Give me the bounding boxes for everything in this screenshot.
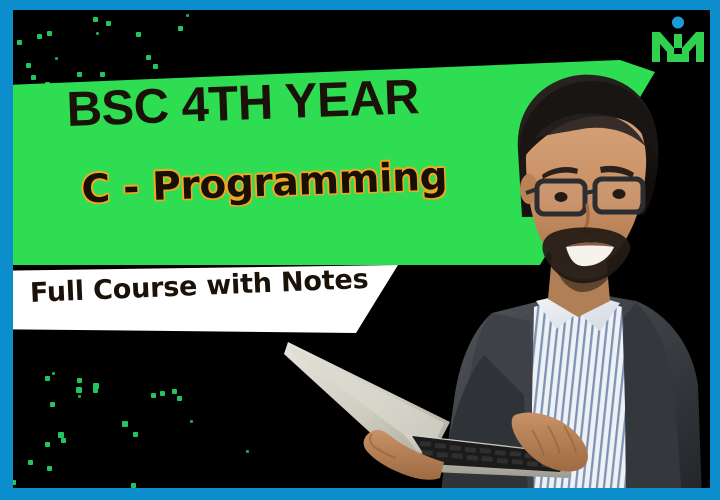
banner-text-group: BSC 4TH YEAR C - Programming [66,72,448,210]
video-thumbnail: BSC 4TH YEAR C - Programming Full Course… [0,0,720,500]
frame-border-left [0,0,13,500]
mindluster-m-logo[interactable] [650,16,706,64]
laptop-illustration [280,330,610,495]
frame-border-bottom [0,488,720,500]
course-level-title: BSC 4TH YEAR [66,72,445,135]
logo-dot [672,17,684,29]
frame-border-top [0,0,720,10]
